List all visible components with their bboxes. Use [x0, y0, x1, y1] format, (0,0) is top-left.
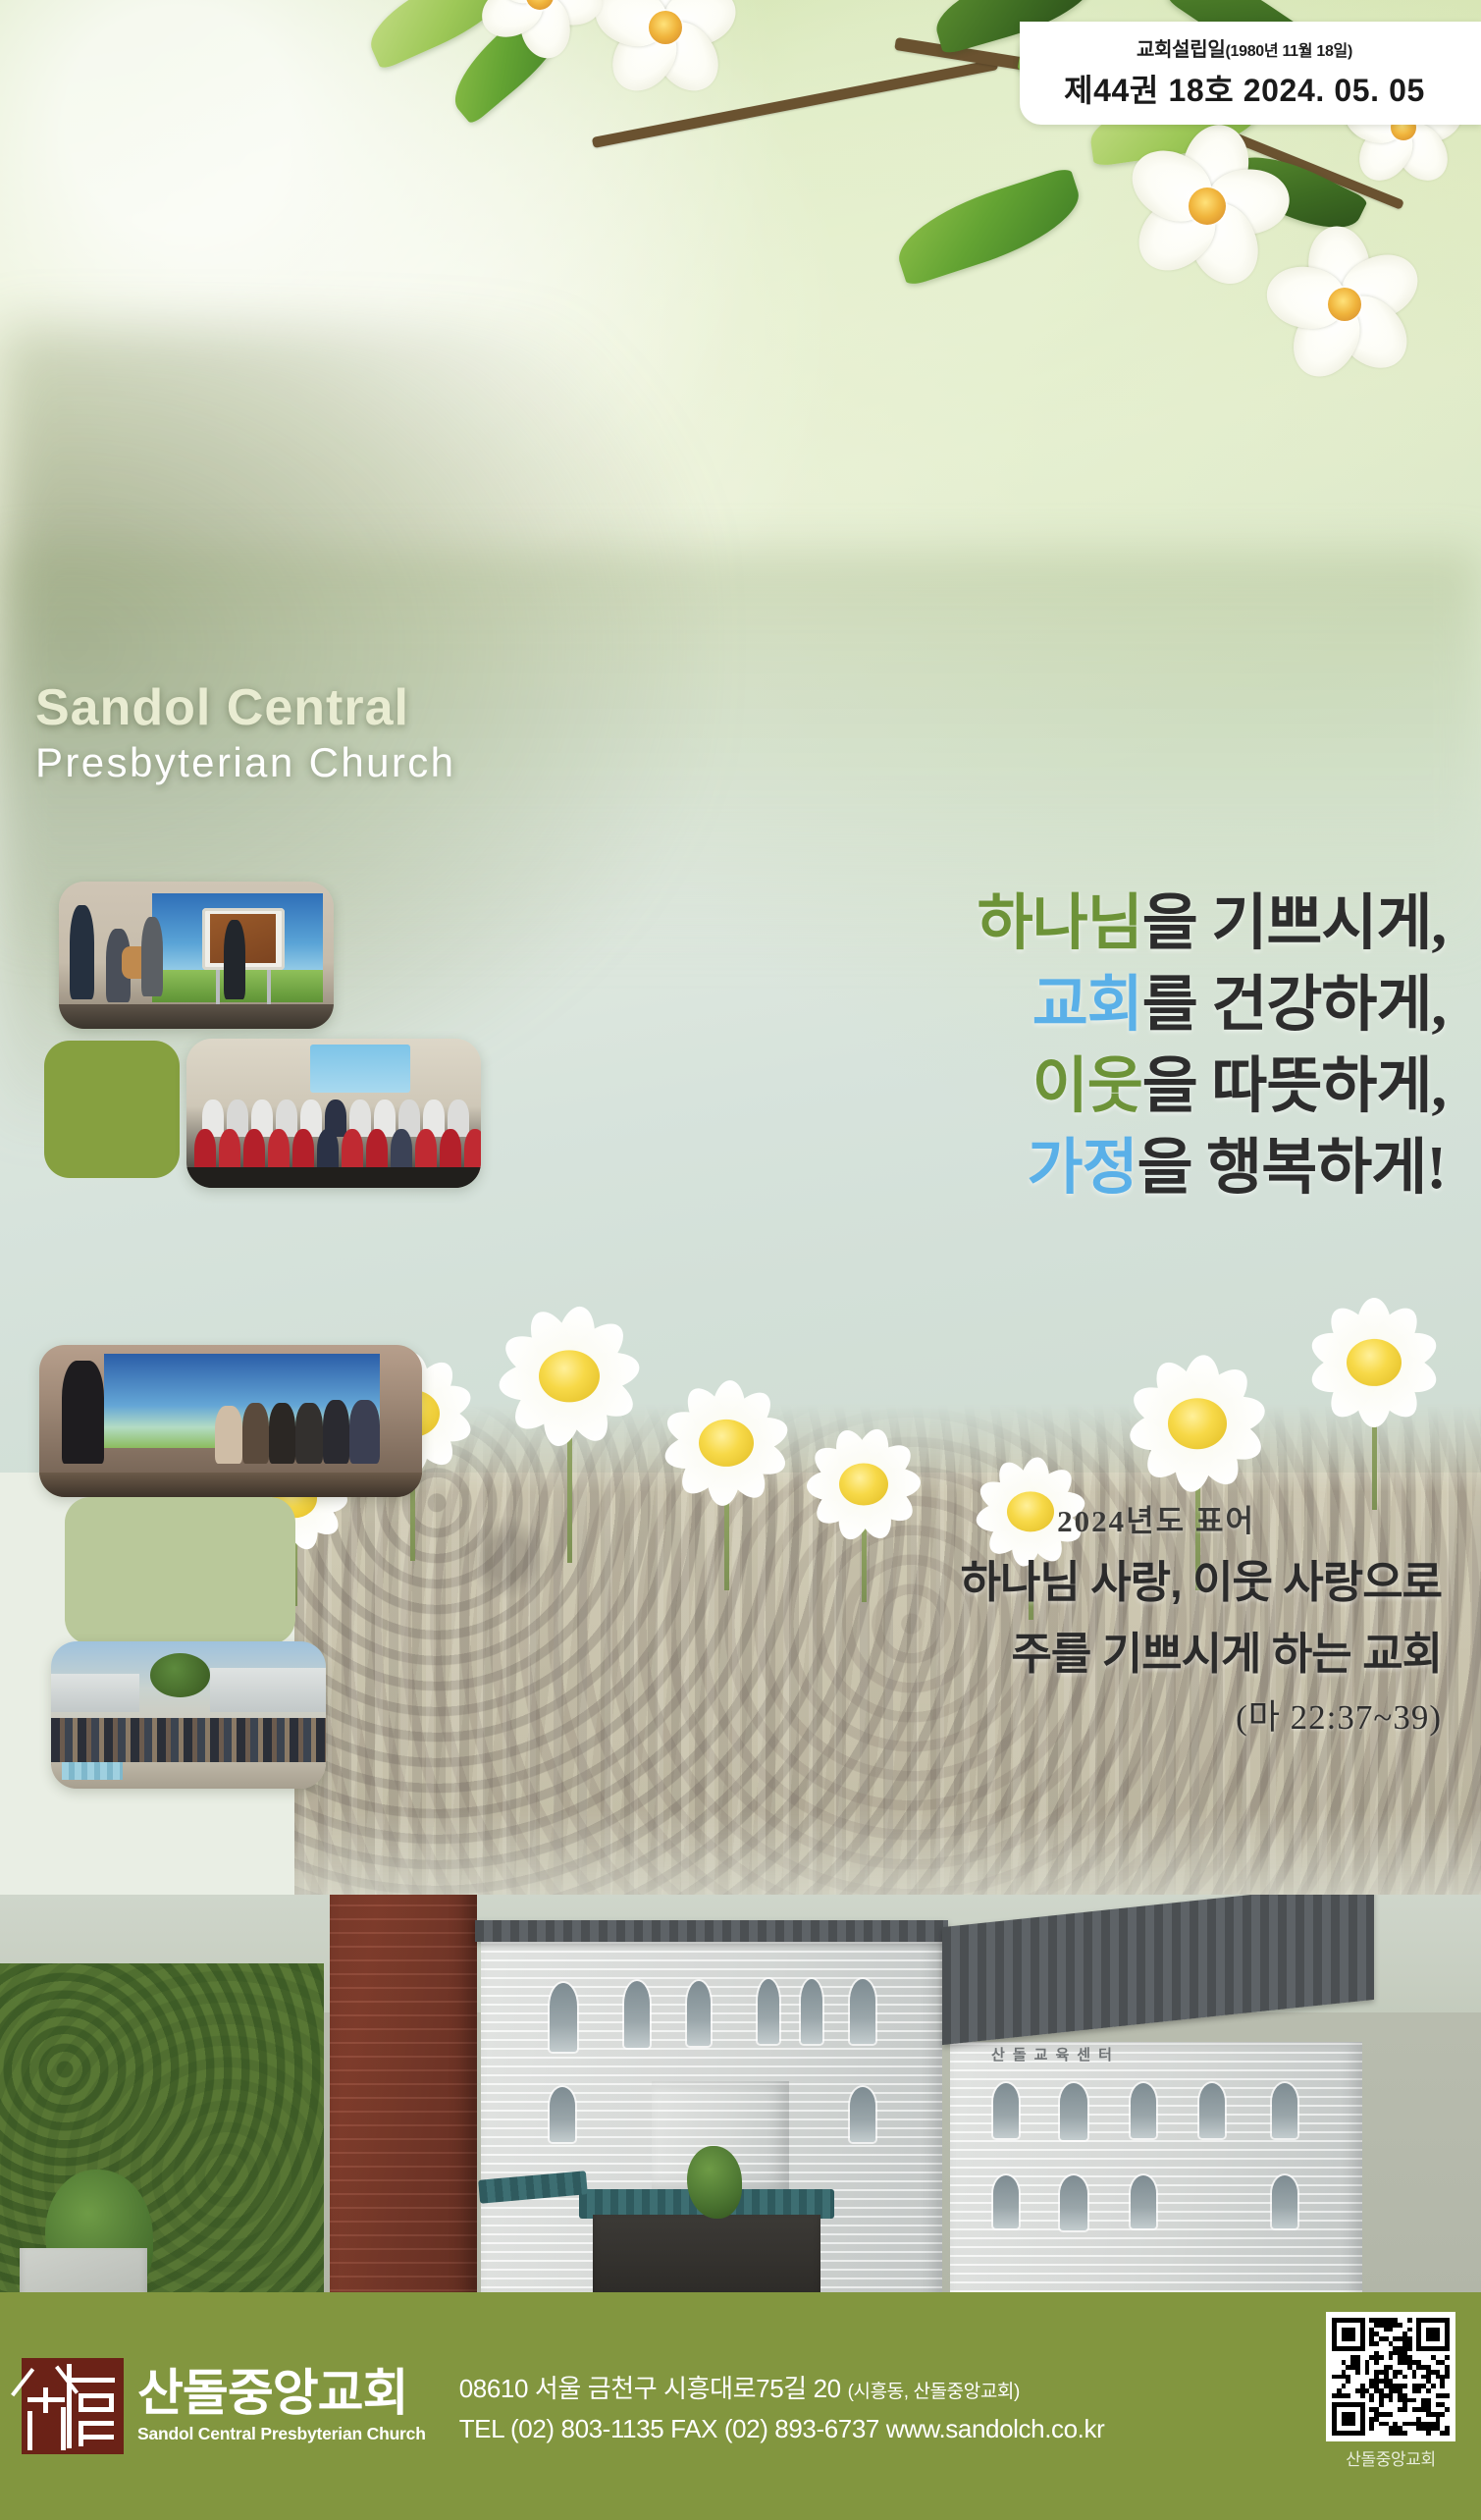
tree	[687, 2146, 742, 2219]
slogan-line-1: 하나님을 기쁘시게,	[978, 884, 1446, 965]
photo-outdoor-group	[51, 1641, 326, 1789]
slogan-accent-family: 가정	[1028, 1135, 1137, 1202]
founded-date: (1980년 11월 18일)	[1225, 43, 1352, 60]
qr-code-icon[interactable]	[1326, 2312, 1455, 2441]
slogan-line-4: 가정을 행복하게!	[978, 1128, 1446, 1209]
church-founded-line: 교회설립일(1980년 11월 18일)	[1041, 33, 1448, 62]
qr-code-block[interactable]: 산돌중앙교회	[1326, 2312, 1455, 2470]
annual-theme-block: 2024년도 표어 하나님 사랑, 이웃 사랑으로 주를 기쁘시게 하는 교회 …	[961, 1496, 1442, 1740]
annual-theme-line1: 하나님 사랑, 이웃 사랑으로	[961, 1552, 1442, 1612]
slogan-accent-god: 하나님	[978, 890, 1142, 957]
photo-worship-stage	[59, 882, 334, 1029]
education-center-sign-char: 교	[1034, 2044, 1049, 2064]
english-name-line1: Sandol Central	[35, 681, 455, 735]
church-address-line: 08610 서울 금천구 시흥대로75길 20 (시흥동, 산돌중앙교회)	[459, 2369, 1105, 2405]
church-slogan: 하나님을 기쁘시게, 교회를 건강하게, 이웃을 따뜻하게, 가정을 행복하게!	[978, 884, 1446, 1209]
church-address-detail: (시흥동, 산돌중앙교회)	[848, 2382, 1020, 2402]
education-center-building	[950, 2042, 1362, 2307]
church-contact-line: TEL (02) 803-1135 FAX (02) 893-6737 www.…	[459, 2414, 1105, 2444]
annual-theme-label: 2024년도 표어	[961, 1496, 1255, 1540]
slogan-rest-4: 을 행복하게!	[1137, 1135, 1446, 1202]
decorative-green-block-2	[65, 1497, 295, 1644]
decorative-green-block-1	[44, 1041, 180, 1178]
slogan-line-3: 이웃을 따뜻하게,	[978, 1046, 1446, 1128]
qr-code-label: 산돌중앙교회	[1346, 2445, 1435, 2470]
education-center-sign-char: 센	[1077, 2044, 1091, 2064]
education-center-sign-char: 돌	[1013, 2044, 1028, 2064]
english-name-line2: Presbyterian Church	[35, 740, 455, 785]
education-center-sign: 산 돌 교 육 센 터	[991, 2044, 1113, 2064]
issue-banner: 교회설립일(1980년 11월 18일) 제44권 18호 2024. 05. …	[1020, 22, 1481, 125]
sandol-emblem-icon	[22, 2358, 124, 2454]
footer-bar: 산돌중앙교회 Sandol Central Presbyterian Churc…	[0, 2292, 1481, 2520]
photo-choir	[186, 1039, 481, 1188]
brick-church-tower	[330, 1895, 477, 2307]
logo-korean-name: 산돌중앙교회	[137, 2368, 426, 2418]
founded-label: 교회설립일	[1137, 39, 1226, 61]
english-church-name: Sandol Central Presbyterian Church	[35, 681, 455, 785]
slogan-rest-2: 를 건강하게,	[1142, 972, 1446, 1039]
church-campus-photo: 산 돌 교 육 센 터 산 돌 중 앙 교 회	[0, 1895, 1481, 2307]
bulletin-cover: 산 돌 교 육 센 터 산 돌 중 앙 교 회	[0, 0, 1481, 2520]
slogan-accent-church: 교회	[1032, 972, 1142, 1039]
photo-testimony-panel	[39, 1345, 422, 1497]
logo-text-group: 산돌중앙교회 Sandol Central Presbyterian Churc…	[137, 2368, 426, 2444]
education-center-sign-char: 터	[1098, 2044, 1113, 2064]
education-center-sign-char: 육	[1055, 2044, 1070, 2064]
building-roof	[475, 1920, 948, 1942]
contact-info: 08610 서울 금천구 시흥대로75길 20 (시흥동, 산돌중앙교회) TE…	[459, 2369, 1105, 2444]
education-center-sign-char: 산	[991, 2044, 1006, 2064]
issue-number: 제44권 18호 2024. 05. 05	[1041, 66, 1448, 111]
logo-english-name: Sandol Central Presbyterian Church	[137, 2424, 426, 2444]
annual-theme-reference: (마 22:37~39)	[961, 1689, 1442, 1740]
slogan-line-2: 교회를 건강하게,	[978, 965, 1446, 1046]
church-address: 08610 서울 금천구 시흥대로75길 20	[459, 2374, 841, 2403]
annual-theme-line2: 주를 기쁘시게 하는 교회	[961, 1624, 1442, 1684]
slogan-accent-neighbor: 이웃	[1032, 1053, 1142, 1120]
church-logo: 산돌중앙교회 Sandol Central Presbyterian Churc…	[22, 2358, 426, 2454]
slogan-rest-1: 을 기쁘시게,	[1142, 890, 1446, 957]
slogan-rest-3: 을 따뜻하게,	[1142, 1053, 1446, 1120]
